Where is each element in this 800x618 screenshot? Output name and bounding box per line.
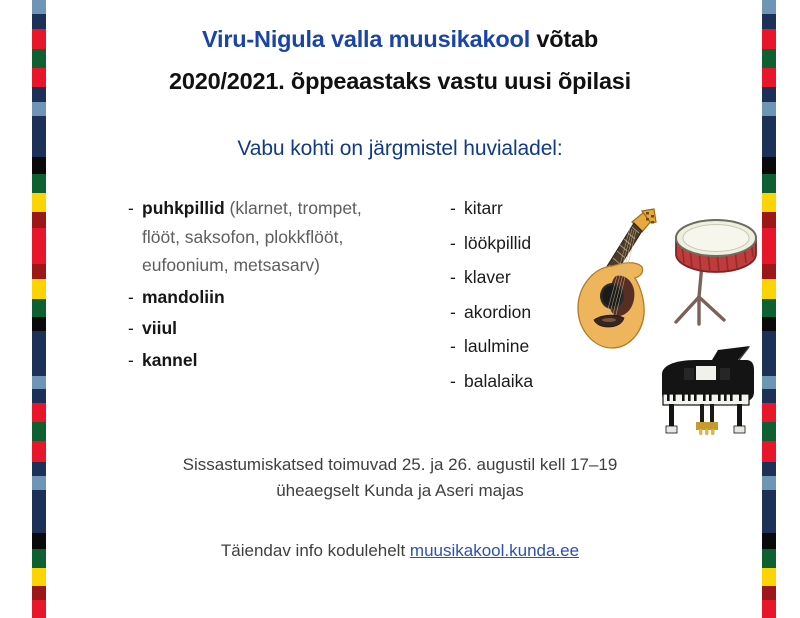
footer-info-prefix: Täiendav info kodulehelt [221,541,410,560]
stripe-segment [762,228,776,246]
list-item-detail-line-1: (klarnet, trompet, [225,198,362,218]
list-item-label: viiul [142,320,428,338]
stripe-segment [762,116,776,157]
bullet-dash: - [450,269,464,287]
stripe-segment [762,29,776,49]
headline-line-2: 2020/2021. õppeaastaks vastu uusi õpilas… [60,70,740,94]
stripe-segment [762,264,776,279]
stripe-segment [762,299,776,317]
bullet-dash: - [128,289,142,307]
stripe-segment [762,600,776,618]
grand-piano-icon [654,344,764,442]
stripe-segment [762,476,776,490]
stripe-segment [762,14,776,30]
list-item-label: kannel [142,352,428,370]
bullet-dash: - [450,200,464,218]
footer-info-row: Täiendav info kodulehelt muusikakool.kun… [60,541,740,561]
list-item-label: mandoliin [142,289,428,307]
stripe-segment [762,549,776,568]
list-item: - kannel [128,352,428,370]
poster-canvas: Viru-Nigula valla muusikakool võtab 2020… [0,0,800,618]
stripe-segment [32,422,46,441]
list-item-label: balalaika [464,373,630,391]
list-item-detail-line-2: flööt, saksofon, plokkflööt, [142,229,428,247]
stripe-segment [32,102,46,116]
stripe-segment [762,87,776,102]
list-item-text: puhkpillid (klarnet, trompet, flööt, sak… [142,200,428,275]
bullet-dash: - [450,304,464,322]
bullet-dash: - [128,352,142,370]
list-item-label: puhkpillid [142,198,225,218]
stripe-segment [32,533,46,549]
stripe-segment [762,68,776,87]
subheading: Vabu kohti on järgmistel huvialadel: [60,137,740,161]
stripe-segment [762,331,776,376]
bullet-dash: - [450,338,464,356]
acoustic-guitar-icon [572,196,664,358]
stripe-segment [32,389,46,403]
stripe-segment [762,102,776,116]
stripe-segment [32,600,46,618]
stripe-segment [762,422,776,441]
stripe-segment [32,586,46,600]
headline-line-1-rest: võtab [530,26,598,52]
stripe-segment [32,246,46,264]
stripe-segment [762,568,776,586]
snare-drum-icon [662,202,762,330]
stripe-segment [32,157,46,173]
audition-notice-line-1: Sissastumiskatsed toimuvad 25. ja 26. au… [60,452,740,478]
stripe-segment [762,246,776,264]
stripe-segment [32,49,46,68]
audition-notice-line-2: üheaegselt Kunda ja Aseri majas [60,478,740,504]
decorative-stripe-right [762,0,776,618]
list-item-detail-line-3: eufoonium, metsasarv) [142,257,428,275]
bullet-dash: - [450,235,464,253]
stripe-segment [32,212,46,228]
stripe-segment [762,193,776,212]
stripe-segment [32,193,46,212]
stripe-segment [32,462,46,477]
stripe-segment [32,87,46,102]
stripe-segment [762,462,776,477]
stripe-segment [762,586,776,600]
list-item: - balalaika [450,373,630,391]
stripe-segment [32,228,46,246]
bullet-dash: - [450,373,464,391]
stripe-segment [32,549,46,568]
stripe-segment [762,317,776,331]
audition-notice: Sissastumiskatsed toimuvad 25. ja 26. au… [60,452,740,505]
bullet-dash: - [128,320,142,338]
stripe-segment [32,331,46,376]
offerings-column-left: - puhkpillid (klarnet, trompet, flööt, s… [128,200,428,382]
stripe-segment [32,68,46,87]
decorative-stripe-left [32,0,46,618]
stripe-segment [762,389,776,403]
stripe-segment [762,279,776,299]
list-item: - mandoliin [128,289,428,307]
stripe-segment [762,376,776,389]
stripe-segment [32,441,46,462]
headline-line-1: Viru-Nigula valla muusikakool võtab [60,28,740,52]
stripe-segment [32,476,46,490]
bullet-dash: - [128,200,142,218]
stripe-segment [32,264,46,279]
stripe-segment [762,212,776,228]
stripe-segment [32,0,46,14]
stripe-segment [32,29,46,49]
stripe-segment [762,174,776,193]
stripe-segment [762,0,776,14]
stripe-segment [32,403,46,422]
stripe-segment [32,174,46,193]
stripe-segment [32,14,46,30]
stripe-segment [762,49,776,68]
stripe-segment [32,376,46,389]
stripe-segment [762,490,776,533]
list-item: - viiul [128,320,428,338]
stripe-segment [32,490,46,533]
headline-block: Viru-Nigula valla muusikakool võtab 2020… [60,28,740,98]
stripe-segment [32,116,46,157]
stripe-segment [32,568,46,586]
school-name-text: Viru-Nigula valla muusikakool [202,26,530,52]
stripe-segment [32,279,46,299]
stripe-segment [762,441,776,462]
stripe-segment [762,157,776,173]
stripe-segment [762,533,776,549]
list-item: - puhkpillid (klarnet, trompet, flööt, s… [128,200,428,275]
stripe-segment [762,403,776,422]
website-link[interactable]: muusikakool.kunda.ee [410,541,579,560]
stripe-segment [32,317,46,331]
stripe-segment [32,299,46,317]
